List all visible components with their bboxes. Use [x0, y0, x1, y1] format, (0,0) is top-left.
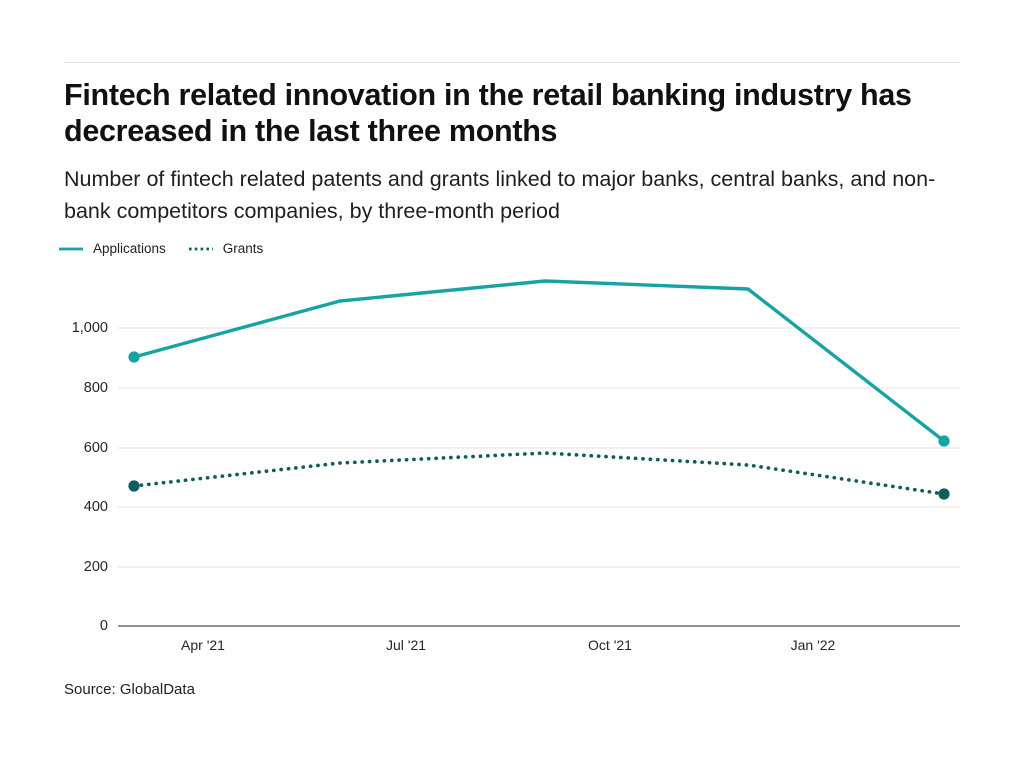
y-tick-label-400: 400: [84, 499, 108, 515]
x-axis-tick-labels: Apr '21 Jul '21 Oct '21 Jan '22: [181, 637, 836, 653]
legend-item-grants[interactable]: Grants: [188, 241, 264, 256]
solid-line-swatch: [58, 243, 84, 255]
x-tick-label-jan-22: Jan '22: [791, 637, 836, 653]
gridlines: [118, 328, 960, 567]
chart-page: Fintech related innovation in the retail…: [0, 0, 1024, 768]
x-tick-label-apr-21: Apr '21: [181, 637, 225, 653]
source-note: Source: GlobalData: [64, 681, 195, 698]
top-divider: [64, 62, 960, 63]
series-markers-applications: [128, 351, 949, 446]
data-point-grants-first[interactable]: [128, 480, 139, 491]
series-markers-grants: [128, 480, 949, 499]
x-tick-label-oct-21: Oct '21: [588, 637, 632, 653]
dotted-line-swatch: [188, 243, 214, 255]
data-point-applications-last[interactable]: [938, 435, 949, 446]
legend-label-applications: Applications: [93, 241, 166, 256]
y-tick-label-0: 0: [100, 618, 108, 634]
series-line-grants: [134, 453, 944, 494]
legend-item-applications[interactable]: Applications: [58, 241, 166, 256]
y-tick-label-800: 800: [84, 380, 108, 396]
data-point-grants-last[interactable]: [938, 488, 949, 499]
y-tick-label-600: 600: [84, 440, 108, 456]
legend-label-grants: Grants: [223, 241, 264, 256]
chart-subtitle: Number of fintech related patents and gr…: [64, 163, 959, 228]
y-axis-tick-labels: 1,000 800 600 400 200 0: [72, 320, 108, 634]
page-title: Fintech related innovation in the retail…: [64, 78, 964, 149]
y-tick-label-1000: 1,000: [72, 320, 108, 336]
series-line-applications: [134, 281, 944, 441]
x-tick-label-jul-21: Jul '21: [386, 637, 426, 653]
y-tick-label-200: 200: [84, 559, 108, 575]
chart-legend: Applications Grants: [58, 241, 263, 256]
data-point-applications-first[interactable]: [128, 351, 139, 362]
